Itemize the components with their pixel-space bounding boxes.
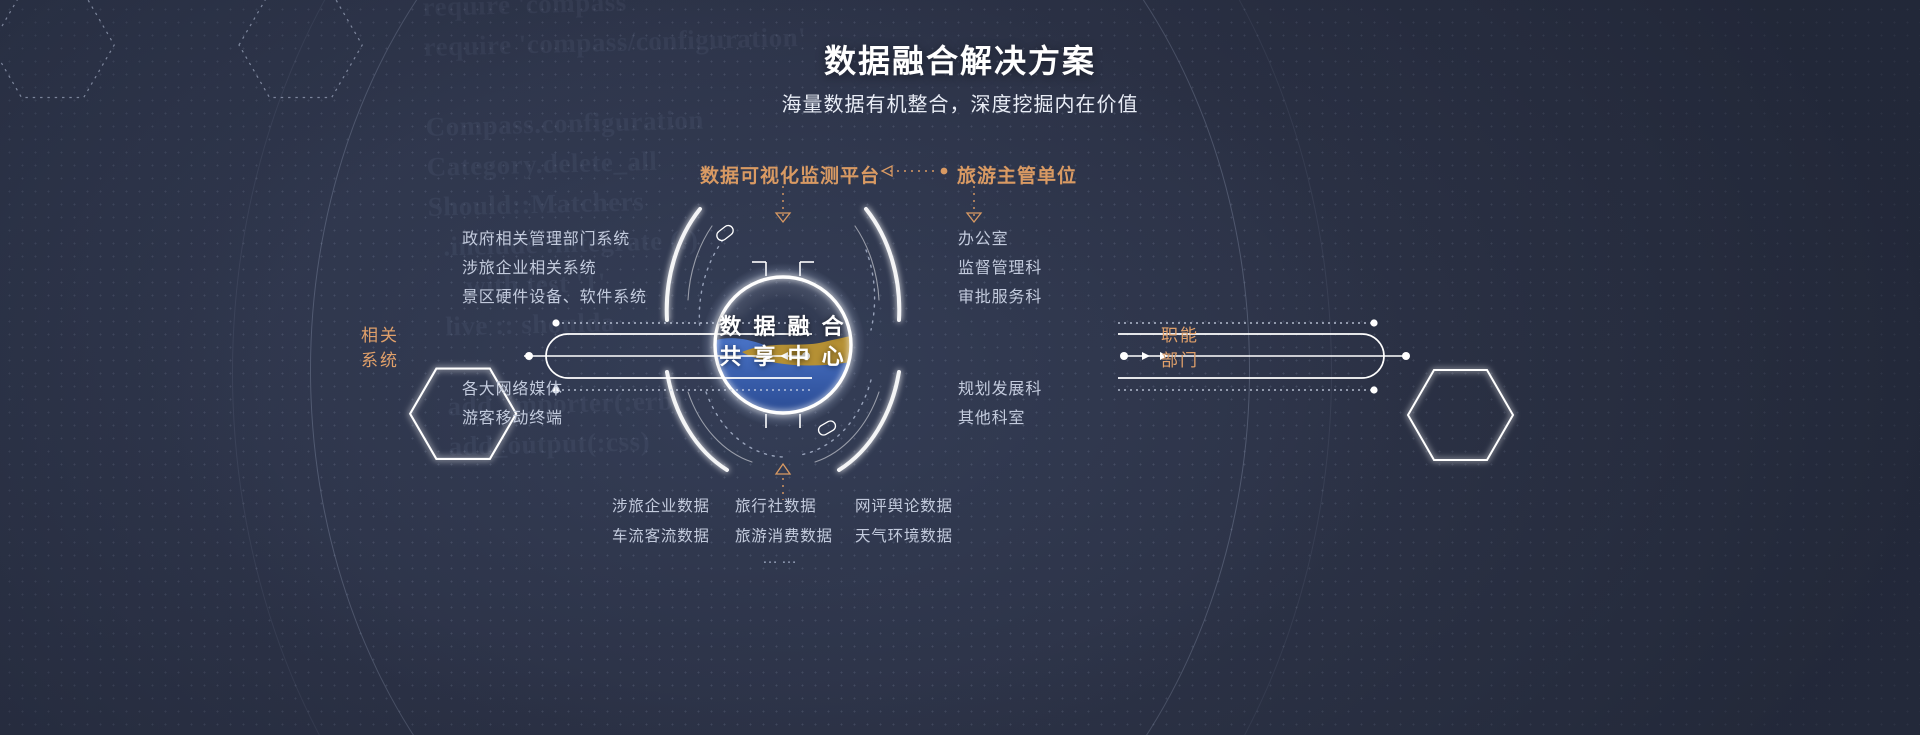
top-left-node-label[interactable]: 数据可视化监测平台 [700,161,880,188]
left-hexagon-label: 相关 系统 [348,323,412,373]
left-hexagon-label-line2: 系统 [348,348,412,373]
right-department-item-2: 监督管理科 [958,254,1042,278]
right-hexagon-label-line1: 职能 [1148,323,1212,348]
bottom-data-item-3: 网评舆论数据 [855,494,953,516]
top-drop-arrows [776,186,981,222]
left-hexagon-outer-dashed [0,0,114,97]
right-department-item-4: 规划发展科 [958,375,1042,399]
right-hexagon-label: 职能 部门 [1148,323,1212,373]
right-department-item-3: 审批服务科 [958,283,1042,307]
core-title: 数 据 融 合 共 享 中 心 [683,312,883,372]
left-system-item-1: 政府相关管理部门系统 [462,225,630,249]
top-node-link [882,166,947,176]
right-department-item-1: 办公室 [958,225,1008,249]
left-system-item-2: 涉旅企业相关系统 [462,254,596,278]
bottom-data-more: …… [762,550,800,568]
left-hexagon-label-line1: 相关 [348,323,412,348]
right-hexagon-outer-dashed [239,0,362,97]
left-system-item-5: 游客移动终端 [462,404,563,428]
bottom-data-item-1: 涉旅企业数据 [612,494,710,516]
top-right-node-label[interactable]: 旅游主管单位 [957,161,1077,188]
right-department-item-5: 其他科室 [958,404,1025,428]
right-hexagon-node[interactable] [239,0,1513,460]
bottom-data-item-2: 旅行社数据 [735,494,817,516]
left-system-item-4: 各大网络媒体 [462,375,563,399]
bottom-data-item-6: 天气环境数据 [855,524,953,546]
right-hexagon-label-line2: 部门 [1148,348,1212,373]
right-hexagon-border [1408,370,1513,460]
left-hexagon-node[interactable] [0,0,516,459]
left-system-item-3: 景区硬件设备、软件系统 [462,283,647,307]
bottom-data-item-5: 旅游消费数据 [735,524,833,546]
core-title-line1: 数 据 融 合 [683,312,883,342]
bottom-data-item-4: 车流客流数据 [612,524,710,546]
core-title-line2: 共 享 中 心 [683,342,883,372]
